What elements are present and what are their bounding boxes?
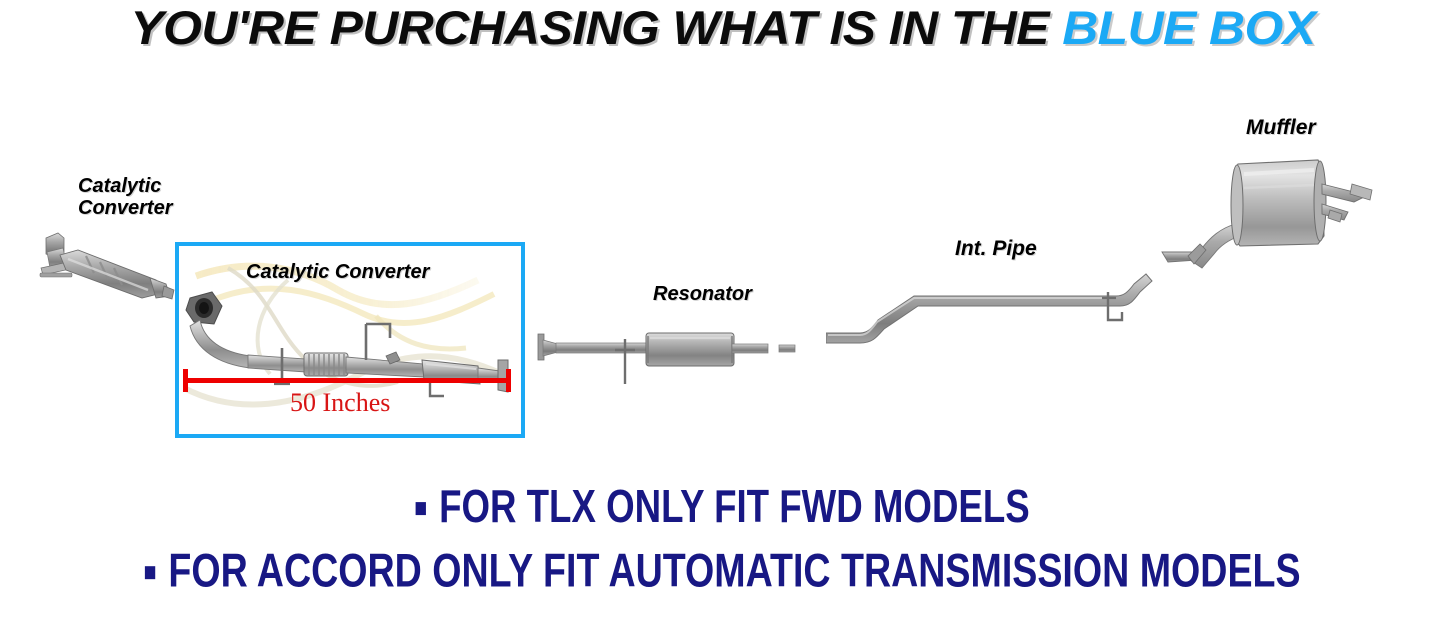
muffler-image — [1186, 148, 1396, 283]
label-catalytic-converter-left: Catalytic Converter — [78, 176, 172, 219]
resonator-image — [536, 326, 796, 401]
fitment-note-1: FOR TLX ONLY FIT FWD MODELS — [0, 486, 1445, 530]
fitment-note-2-inner: FOR ACCORD ONLY FIT AUTOMATIC TRANSMISSI… — [145, 545, 1301, 598]
label-muffler: Muffler — [1246, 117, 1316, 140]
measurement-line — [183, 378, 511, 383]
fitment-note-2-text: FOR ACCORD ONLY FIT AUTOMATIC TRANSMISSI… — [168, 545, 1300, 597]
fitment-note-1-inner: FOR TLX ONLY FIT FWD MODELS — [415, 482, 1029, 534]
fitment-note-1-text: FOR TLX ONLY FIT FWD MODELS — [439, 482, 1030, 533]
header-banner: YOU'RE PURCHASING WHAT IS IN THE BLUE BO… — [0, 0, 1445, 56]
bullet-square-icon — [145, 566, 155, 579]
fitment-note-2: FOR ACCORD ONLY FIT AUTOMATIC TRANSMISSI… — [0, 549, 1445, 594]
label-resonator: Resonator — [653, 284, 752, 306]
catalytic-converter-manifold-image — [38, 228, 188, 313]
measurement-label: 50 Inches — [290, 388, 390, 418]
intermediate-pipe-image — [826, 250, 1206, 375]
product-diagram-canvas: YOU'RE PURCHASING WHAT IS IN THE BLUE BO… — [0, 0, 1445, 619]
header-inner: YOU'RE PURCHASING WHAT IS IN THE BLUE BO… — [130, 0, 1315, 56]
header-text-blue: BLUE BOX — [1062, 1, 1315, 54]
header-text-black: YOU'RE PURCHASING WHAT IS IN THE — [130, 1, 1062, 54]
bullet-square-icon — [415, 502, 425, 515]
measurement-cap-right — [506, 369, 511, 392]
label-intermediate-pipe: Int. Pipe — [955, 238, 1037, 261]
